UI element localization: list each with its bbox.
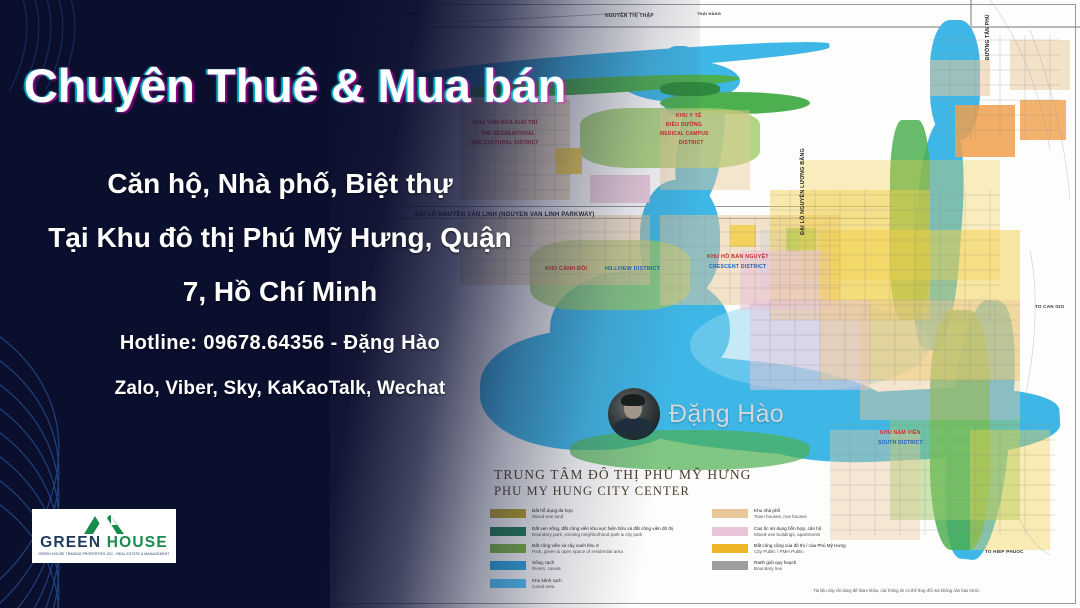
headline: Chuyên Thuê & Mua bán [24, 62, 604, 109]
logo-tagline: GREEN HOUSE TRADING PROPERTIES JSC - REA… [38, 552, 169, 557]
hotline-text: Hotline: 09678.64356 - Đặng Hào [0, 332, 560, 355]
brand-logo[interactable]: GREEN HOUSE GREEN HOUSE TRADING PROPERTI… [32, 509, 176, 563]
logo-word-house: HOUSE [107, 534, 168, 551]
social-apps-text: Zalo, Viber, Sky, KaKaoTalk, Wechat [0, 378, 560, 400]
subtitle-line-1: Căn hộ, Nhà phố, Biệt thự [0, 166, 560, 201]
watermark: Đặng Hào [608, 388, 784, 440]
subtitle-line-2: Tại Khu đô thị Phú Mỹ Hưng, Quận [0, 220, 560, 255]
avatar-body [614, 418, 654, 440]
logo-wordmark: GREEN HOUSE [40, 535, 168, 551]
slide-canvas: NGUYỄN THỊ THẬPTHẢI HÀNGTHẢI HÀNGKHU VĂN… [0, 0, 1080, 608]
avatar-hair [621, 394, 645, 406]
subtitle-line-3: 7, Hồ Chí Minh [0, 274, 560, 309]
green-house-mountain-icon [81, 515, 127, 534]
avatar [608, 388, 660, 440]
logo-word-green: GREEN [40, 534, 101, 551]
watermark-name: Đặng Hào [669, 400, 784, 429]
